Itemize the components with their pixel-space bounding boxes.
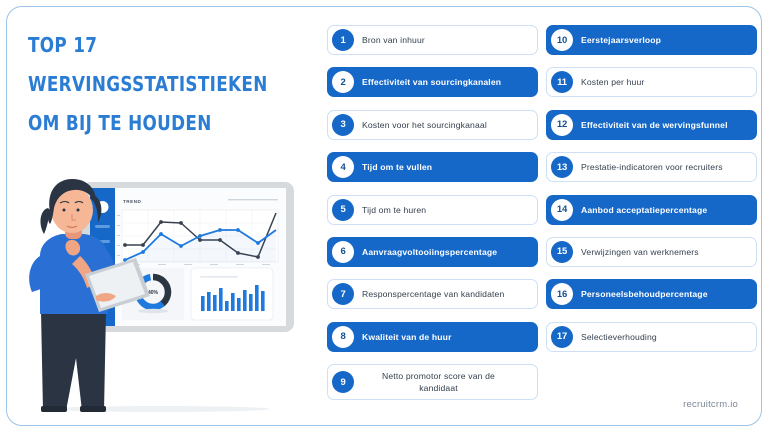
list-item[interactable]: 5 Tijd om te huren xyxy=(327,195,538,225)
list-item-label: Effectiviteit van sourcingkanalen xyxy=(362,71,529,93)
list-item[interactable]: 2 Effectiviteit van sourcingkanalen xyxy=(327,67,538,97)
list-item-number: 5 xyxy=(332,199,354,221)
list-item-label: Aanbod acceptatiepercentage xyxy=(581,199,748,221)
list-item[interactable]: 3 Kosten voor het sourcingkanaal xyxy=(327,110,538,140)
list-item[interactable]: 13 Prestatie-indicatoren voor recruiters xyxy=(546,152,757,182)
list-item-label: Personeelsbehoudpercentage xyxy=(581,283,748,305)
list-item-number: 15 xyxy=(551,241,573,263)
list-item-number: 14 xyxy=(551,199,573,221)
list-item-number: 17 xyxy=(551,326,573,348)
list-item-number: 2 xyxy=(332,71,354,93)
list-item-label: Netto promotor score van de kandidaat xyxy=(362,365,529,399)
list-item-number: 1 xyxy=(332,29,354,51)
list-item-label: Tijd om te huren xyxy=(362,199,529,221)
brand-footer-link[interactable]: recruitcrm.io xyxy=(683,399,738,410)
list-item[interactable]: 17 Selectieverhouding xyxy=(546,322,757,352)
tablet-device-graphic: TREND xyxy=(82,182,294,332)
list-item-label: Kosten voor het sourcingkanaal xyxy=(362,114,529,136)
svg-text:TREND: TREND xyxy=(123,199,142,204)
list-item-label: Prestatie-indicatoren voor recruiters xyxy=(581,156,748,178)
list-item[interactable]: 15 Verwijzingen van werknemers xyxy=(546,237,757,267)
list-item-number: 12 xyxy=(551,114,573,136)
list-item-label: Responspercentage van kandidaten xyxy=(362,283,529,305)
list-item[interactable]: 8 Kwaliteit van de huur xyxy=(327,322,538,352)
list-item-number: 8 xyxy=(332,326,354,348)
stats-list-left-column: 1 Bron van inhuur 2 Effectiviteit van so… xyxy=(327,25,538,413)
list-item[interactable]: 6 Aanvraagvoltooiingspercentage xyxy=(327,237,538,267)
list-item-number: 10 xyxy=(551,29,573,51)
illustration-svg: TREND xyxy=(10,168,310,418)
list-item[interactable]: 9 Netto promotor score van de kandidaat xyxy=(327,364,538,400)
list-item-label: Aanvraagvoltooiingspercentage xyxy=(362,241,529,263)
page-title-line-1: TOP 17 xyxy=(28,26,249,65)
list-item[interactable]: 11 Kosten per huur xyxy=(546,67,757,97)
list-item[interactable]: 14 Aanbod acceptatiepercentage xyxy=(546,195,757,225)
list-item-label: Verwijzingen van werknemers xyxy=(581,241,748,263)
page-title: TOP 17 WERVINGSSTATISTIEKEN OM BIJ TE HO… xyxy=(28,26,249,143)
list-item-number: 4 xyxy=(332,156,354,178)
list-item[interactable]: 1 Bron van inhuur xyxy=(327,25,538,55)
list-item[interactable]: 7 Responspercentage van kandidaten xyxy=(327,279,538,309)
list-item-number: 3 xyxy=(332,114,354,136)
list-item-number: 13 xyxy=(551,156,573,178)
list-item-label: Tijd om te vullen xyxy=(362,156,529,178)
list-item-label: Selectieverhouding xyxy=(581,326,748,348)
list-item-number: 11 xyxy=(551,71,573,93)
stats-list-right-column: 10 Eerstejaarsverloop 11 Kosten per huur… xyxy=(546,25,757,364)
list-item-label: Kosten per huur xyxy=(581,71,748,93)
hero-illustration: TREND xyxy=(10,168,310,418)
list-item[interactable]: 16 Personeelsbehoudpercentage xyxy=(546,279,757,309)
page-title-line-3: OM BIJ TE HOUDEN xyxy=(28,104,249,143)
list-item-number: 16 xyxy=(551,283,573,305)
list-item[interactable]: 12 Effectiviteit van de wervingsfunnel xyxy=(546,110,757,140)
list-item-label: Eerstejaarsverloop xyxy=(581,29,748,51)
infographic-canvas: TOP 17 WERVINGSSTATISTIEKEN OM BIJ TE HO… xyxy=(0,0,768,432)
list-item-label: Bron van inhuur xyxy=(362,29,529,51)
list-item[interactable]: 4 Tijd om te vullen xyxy=(327,152,538,182)
list-item-label: Effectiviteit van de wervingsfunnel xyxy=(581,114,748,136)
list-item-number: 6 xyxy=(332,241,354,263)
list-item-number: 7 xyxy=(332,283,354,305)
list-item[interactable]: 10 Eerstejaarsverloop xyxy=(546,25,757,55)
left-panel: TOP 17 WERVINGSSTATISTIEKEN OM BIJ TE HO… xyxy=(0,0,320,432)
list-item-number: 9 xyxy=(332,371,354,393)
list-item-label: Kwaliteit van de huur xyxy=(362,326,529,348)
page-title-line-2: WERVINGSSTATISTIEKEN xyxy=(28,65,249,104)
